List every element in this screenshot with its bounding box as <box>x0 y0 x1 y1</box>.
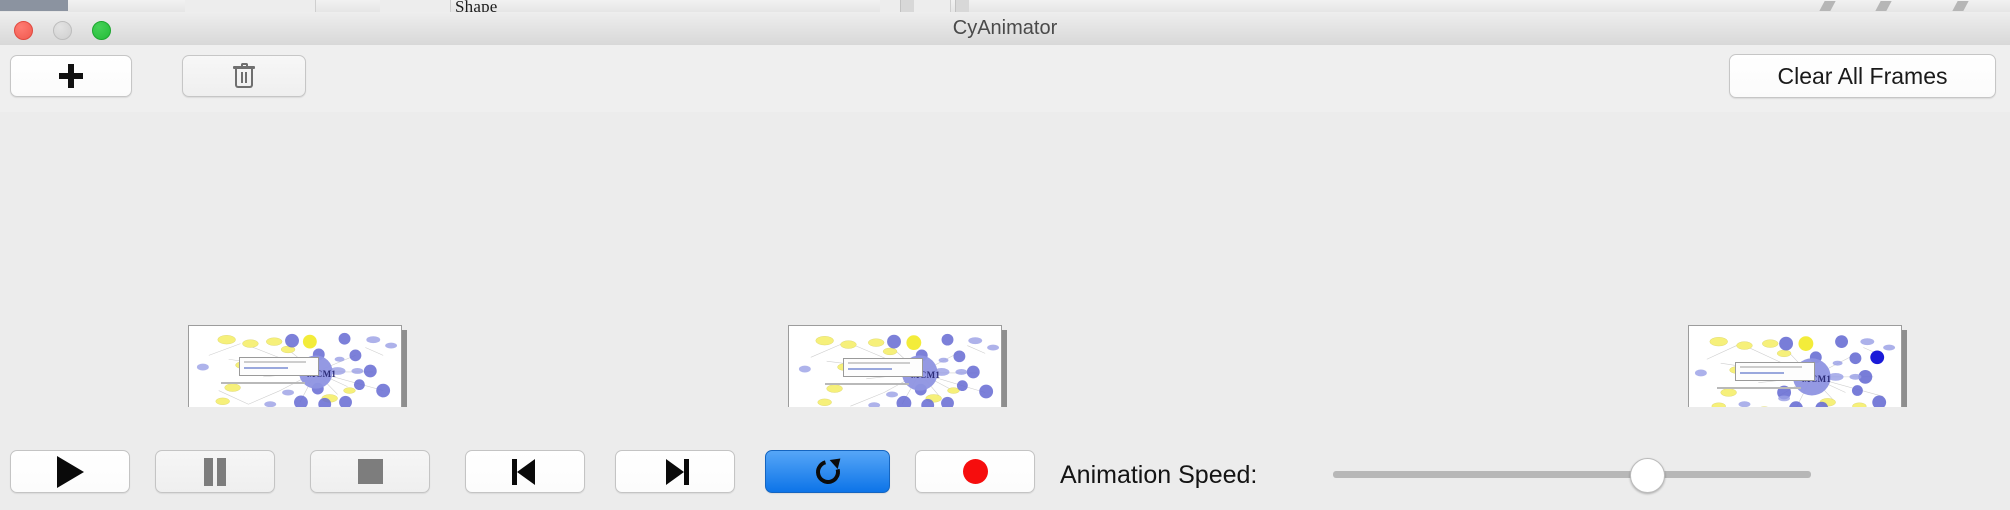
frame-thumbnail[interactable]: MCM1 <box>788 325 1007 407</box>
clear-all-frames-button[interactable]: Clear All Frames <box>1729 54 1996 98</box>
play-button[interactable] <box>10 450 130 493</box>
frame-preview: MCM1 <box>1688 325 1902 407</box>
background-segment <box>380 0 451 12</box>
frame-preview: MCM1 <box>788 325 1002 407</box>
pause-button[interactable] <box>155 450 275 493</box>
callout-line <box>1740 366 1802 368</box>
slider-track[interactable] <box>1333 471 1811 478</box>
window-titlebar: CyAnimator <box>0 12 2010 46</box>
animation-speed-label: Animation Speed: <box>1060 461 1257 490</box>
background-slash-mark <box>1819 1 1835 11</box>
loop-icon <box>814 458 842 486</box>
background-segment <box>185 0 256 12</box>
frame-thumbnail[interactable]: MCM1 <box>1688 325 1907 407</box>
background-notch <box>955 0 969 12</box>
callout-line <box>1740 372 1784 374</box>
pause-icon <box>202 458 228 486</box>
caption-line <box>1717 387 1801 389</box>
add-frame-button[interactable] <box>10 55 132 97</box>
delete-frame-button[interactable] <box>182 55 306 97</box>
skip-to-start-button[interactable] <box>465 450 585 493</box>
skip-to-start-icon <box>512 459 539 485</box>
record-button[interactable] <box>915 450 1035 493</box>
frame-toolbar: Clear All Frames <box>0 45 2010 112</box>
plus-icon <box>58 63 84 89</box>
callout-line <box>848 368 892 370</box>
timeline-panel[interactable]: MCM1 <box>0 113 2010 407</box>
caption-line <box>825 383 909 385</box>
trash-icon <box>233 63 255 89</box>
background-slash-mark <box>1875 1 1891 11</box>
stop-icon <box>358 459 383 484</box>
callout-line <box>848 362 910 364</box>
loop-button[interactable] <box>765 450 890 493</box>
callout-line <box>244 361 306 363</box>
play-icon <box>57 456 84 488</box>
skip-to-end-button[interactable] <box>615 450 735 493</box>
background-notch <box>900 0 914 12</box>
background-slash-mark <box>1952 1 1968 11</box>
background-titlebar-fragment <box>0 0 68 11</box>
clear-all-frames-label: Clear All Frames <box>1778 63 1948 90</box>
cyanimator-window: Shape CyAnimator Clear All Frames <box>0 0 2010 510</box>
animation-speed-slider[interactable] <box>1333 471 1811 478</box>
window-title: CyAnimator <box>0 12 2010 45</box>
stop-button[interactable] <box>310 450 430 493</box>
skip-to-end-icon <box>662 459 689 485</box>
frame-preview: MCM1 <box>188 325 402 407</box>
background-segment <box>255 0 316 12</box>
slider-knob[interactable] <box>1630 458 1665 493</box>
background-segment <box>880 0 951 12</box>
frame-thumbnail[interactable]: MCM1 <box>188 325 407 407</box>
callout-line <box>244 367 288 369</box>
playback-toolbar: Animation Speed: <box>0 439 2010 510</box>
caption-line <box>221 382 305 384</box>
record-icon <box>963 459 988 484</box>
